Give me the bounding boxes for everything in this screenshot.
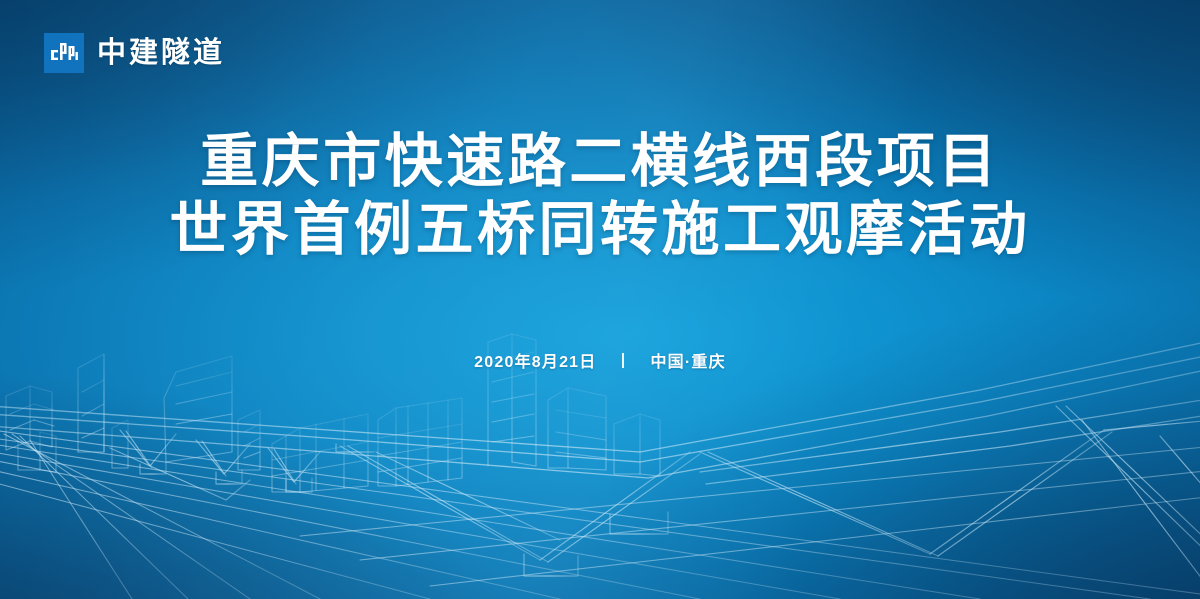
- title-line-2: 世界首例五桥同转施工观摩活动: [0, 196, 1200, 264]
- event-meta: 2020年8月21日 中国·重庆: [0, 348, 1200, 372]
- cscec-logo-mark-icon: [44, 33, 84, 73]
- brand-company-name: 中建隧道: [97, 39, 225, 68]
- poster-canvas: 中建隧道 重庆市快速路二横线西段项目 世界首例五桥同转施工观摩活动 2020年8…: [0, 0, 1200, 599]
- background-line-art: [0, 0, 1200, 599]
- page-title: 重庆市快速路二横线西段项目 世界首例五桥同转施工观摩活动: [0, 128, 1200, 265]
- roadway-perspective-lines: [0, 430, 1200, 599]
- event-date: 2020年8月21日: [474, 348, 596, 372]
- title-line-1: 重庆市快速路二横线西段项目: [0, 128, 1200, 196]
- event-location: 中国·重庆: [650, 348, 725, 372]
- meta-divider: [622, 353, 624, 368]
- brand-logo: 中建隧道: [44, 33, 225, 73]
